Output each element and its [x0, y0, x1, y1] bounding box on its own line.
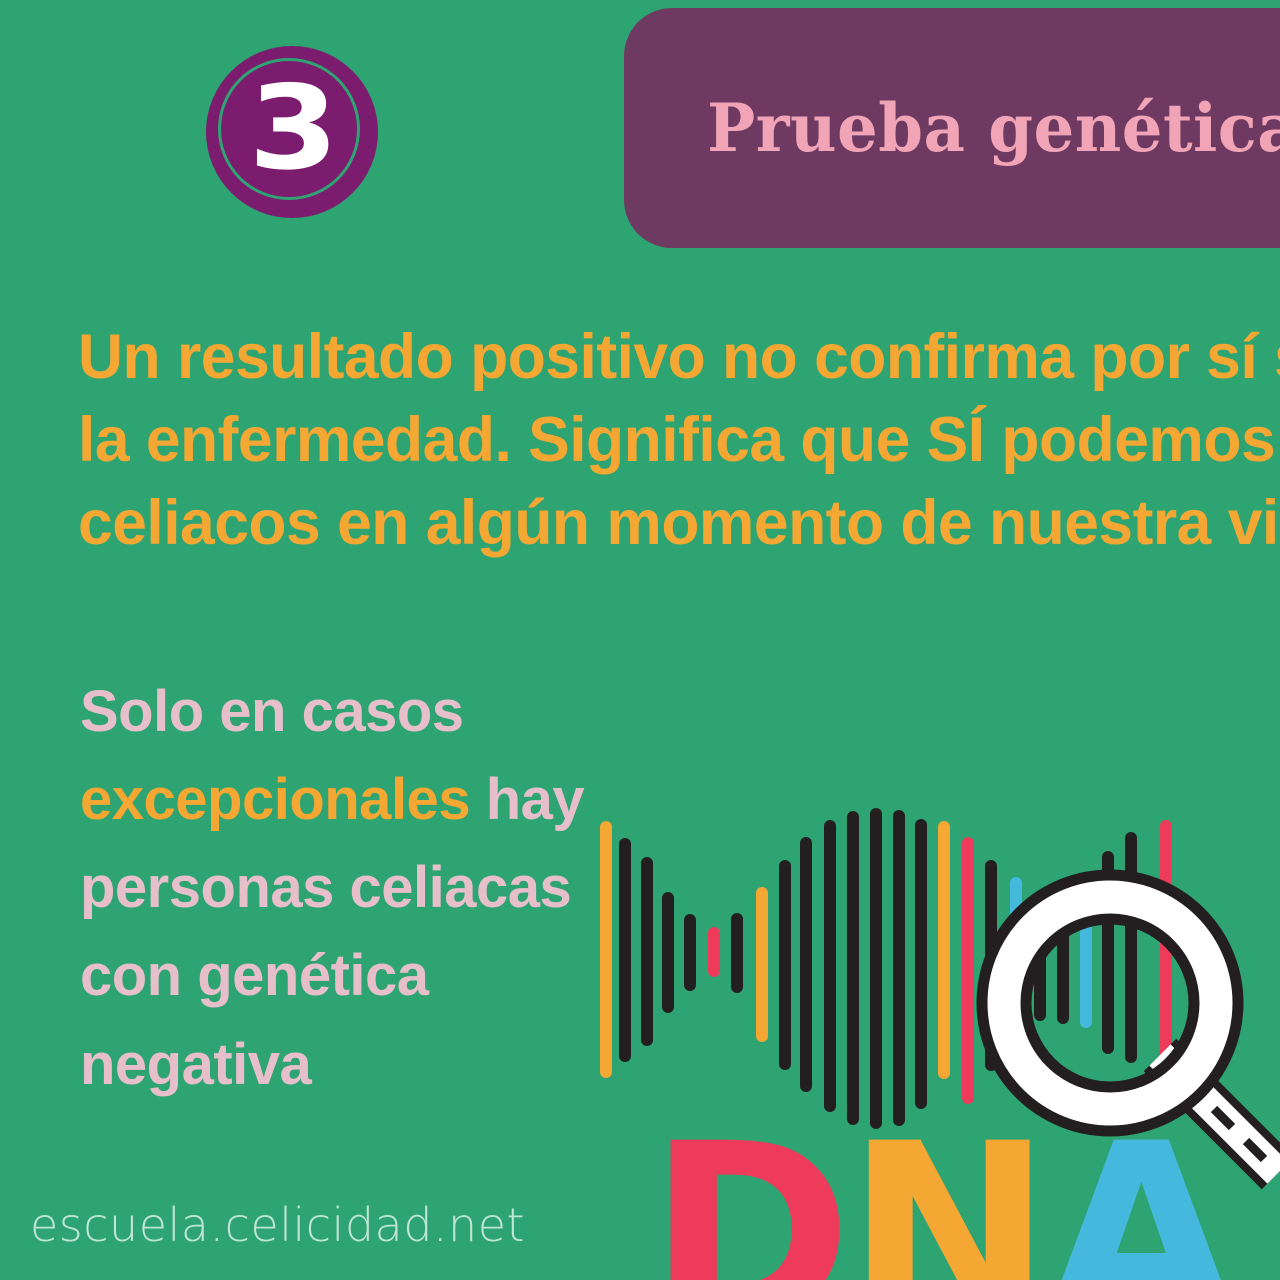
- footer-website-url: escuela.celicidad.net: [30, 1198, 525, 1252]
- headline-line-3: celiacos en algún momento de nuestra vid…: [78, 482, 1236, 565]
- magnifier-ring: [1004, 897, 1216, 1109]
- page-title: Prueba genética: [707, 89, 1280, 167]
- dna-bars: [606, 814, 1166, 1123]
- magnifier-inner-outline: [1026, 919, 1194, 1087]
- secondary-text-before: Solo en casos: [80, 679, 464, 744]
- secondary-paragraph: Solo en casos excepcionales hay personas…: [80, 668, 600, 1109]
- poster-canvas: 3 Prueba genética Un resultado positivo …: [0, 0, 1280, 1280]
- dna-letter-n: N: [846, 1112, 1046, 1280]
- headline-line-1: Un resultado positivo no confirma por sí…: [78, 316, 1236, 399]
- title-panel: Prueba genética: [624, 8, 1280, 248]
- headline-line-2: la enfermedad. Significa que SÍ podemos …: [78, 399, 1236, 482]
- badge-number-label: 3: [248, 71, 336, 187]
- dna-letter-d: D: [648, 1112, 846, 1280]
- dna-letter-a: A: [1046, 1112, 1230, 1280]
- secondary-highlight: excepcionales: [80, 767, 470, 832]
- headline-block: Un resultado positivo no confirma por sí…: [78, 316, 1236, 565]
- dna-wordmark: DNA: [648, 1112, 1230, 1280]
- step-number-badge: 3: [206, 46, 378, 218]
